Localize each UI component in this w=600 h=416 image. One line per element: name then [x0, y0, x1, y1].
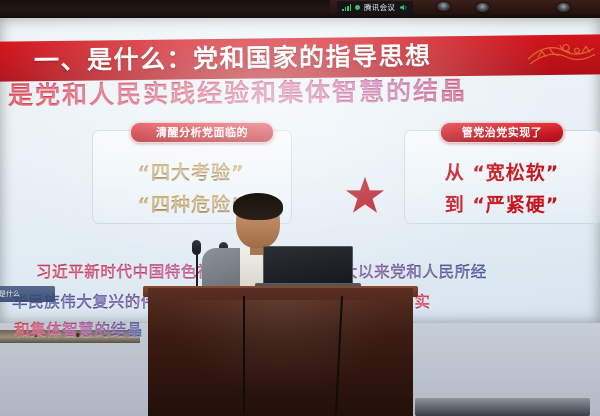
card-left-pill-label: 清醒分析党面临的	[130, 122, 274, 143]
equipment-tray	[415, 398, 590, 416]
card-right-line-2: 到 “严紧硬”	[404, 190, 600, 217]
tencent-meeting-status-bar[interactable]: 腾讯会议	[337, 1, 413, 14]
hair	[233, 193, 283, 220]
slide-paragraph-line-3: 和集体智慧的结晶	[14, 318, 143, 340]
card-right-pill-label: 管党治党实现了	[440, 122, 564, 143]
card-right-line-1: 从 “宽松软”	[404, 158, 600, 185]
status-bar-app-name: 腾讯会议	[364, 2, 395, 13]
ceiling-spotlight-icon	[437, 2, 450, 11]
cable	[243, 296, 245, 414]
slide-subtitle: 是党和人民实践经验和集体智慧的结晶	[8, 73, 588, 113]
podium-shading	[148, 300, 413, 416]
presentation-photo-scene: 一、是什么：党和国家的指导思想 是党和人民实践经验和集体智慧的结晶 清醒分析党面…	[0, 0, 600, 416]
red-star-icon	[345, 176, 385, 214]
ceiling-spotlight-icon	[557, 3, 570, 12]
green-status-dot	[355, 5, 360, 10]
mini-slide-thumbnail: 是什么	[0, 286, 55, 302]
signal-bars-icon	[342, 4, 351, 11]
laptop-screen	[263, 246, 353, 286]
ceiling-spotlight-icon	[476, 3, 489, 12]
card-left-line-1: “四大考验”	[92, 158, 290, 185]
speaker-icon[interactable]	[399, 3, 408, 12]
